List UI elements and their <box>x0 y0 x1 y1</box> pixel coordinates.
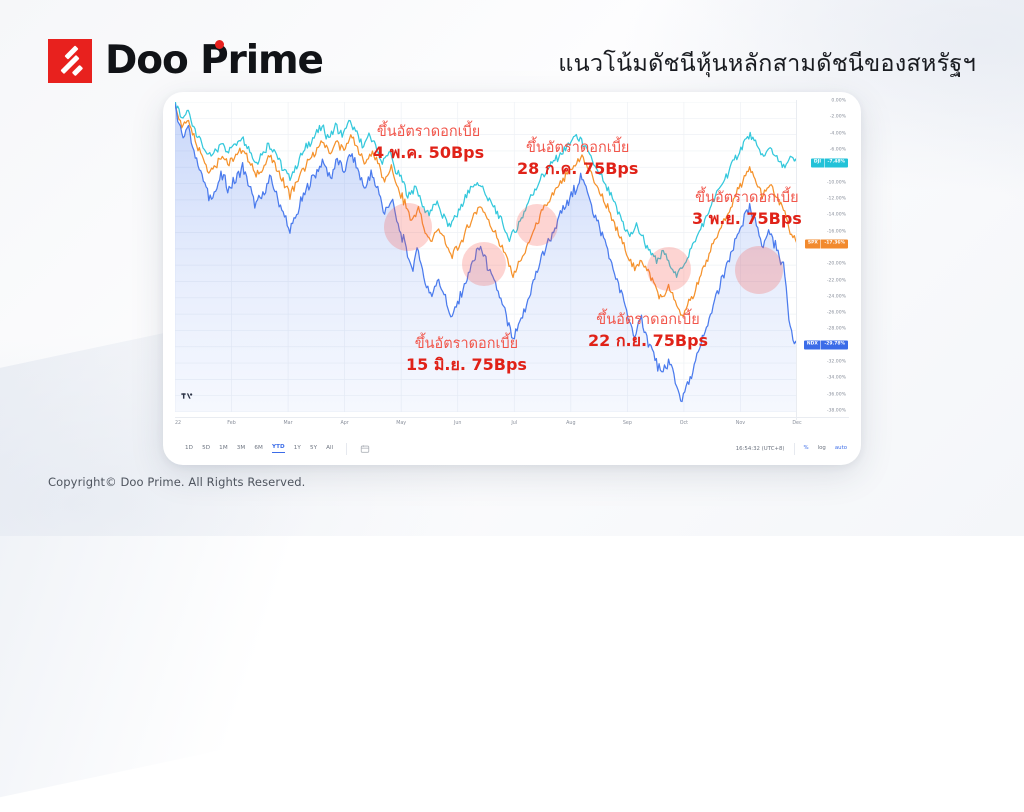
badge-symbol: SPX <box>805 239 820 248</box>
annotation-value: 3 พ.ย. 75Bps <box>692 209 802 229</box>
range-button-all[interactable]: All <box>326 445 333 453</box>
clock-label: 16:54:32 (UTC+8) <box>736 446 785 452</box>
chart-toolbar: 1D5D1M3M6MYTD1Y5YAll 16:54:32 (UTC+8) % … <box>163 432 861 465</box>
price-tick-label: -10.00% <box>827 181 846 186</box>
toolbar-divider-2 <box>794 443 795 455</box>
range-button-6m[interactable]: 6M <box>254 445 263 453</box>
price-tick-label: -38.00% <box>827 410 846 415</box>
date-tick-label: Apr <box>340 422 348 427</box>
date-tick-label: Sep <box>623 422 632 427</box>
annotation-rate-hike-sep-22: ขึ้นอัตราดอกเบี้ย 22 ก.ย. 75Bps <box>588 312 708 350</box>
badge-symbol: DJI <box>811 159 823 168</box>
price-tick-label: -2.00% <box>830 116 846 121</box>
brand-name: Doo Prime <box>105 38 323 83</box>
annotation-value: 28 ก.ค. 75Bps <box>517 159 638 179</box>
price-badge-spx[interactable]: SPX-17.36% <box>805 239 848 248</box>
price-tick-label: -6.00% <box>830 149 846 154</box>
price-tick-label: -28.00% <box>827 328 846 333</box>
date-tick-label: Aug <box>566 422 575 427</box>
toolbar-right-group: 16:54:32 (UTC+8) % log auto <box>736 443 847 455</box>
log-scale-button[interactable]: log <box>818 446 826 451</box>
badge-value: -17.36% <box>820 239 848 248</box>
copyright-text: Copyright© Doo Prime. All Rights Reserve… <box>48 475 305 489</box>
date-tick-label: May <box>396 422 406 427</box>
range-button-3m[interactable]: 3M <box>237 445 246 453</box>
price-tick-label: -34.00% <box>827 377 846 382</box>
auto-scale-button[interactable]: auto <box>835 446 847 451</box>
price-tick-label: -24.00% <box>827 296 846 301</box>
event-marker-a5 <box>647 247 691 291</box>
page-background: Doo Prime แนวโน้มดัชนีหุ้นหลักสามดัชนีขอ… <box>0 0 1024 536</box>
tradingview-logo-icon[interactable] <box>181 390 193 402</box>
brand-dot-icon <box>215 40 224 49</box>
annotation-rate-hike-nov-3: ขึ้นอัตราดอกเบี้ย 3 พ.ย. 75Bps <box>692 190 802 228</box>
annotation-rate-hike-may-4: ขึ้นอัตราดอกเบี้ย 4 พ.ค. 50Bps <box>373 124 484 162</box>
range-button-5d[interactable]: 5D <box>202 445 210 453</box>
annotation-value: 4 พ.ค. 50Bps <box>373 143 484 163</box>
brand-logo: Doo Prime <box>48 38 323 83</box>
percent-scale-button[interactable]: % <box>804 446 809 451</box>
annotation-rate-hike-jun-15: ขึ้นอัตราดอกเบี้ย 15 มิ.ย. 75Bps <box>406 336 527 374</box>
annotation-label: ขึ้นอัตราดอกเบี้ย <box>406 336 527 354</box>
annotation-label: ขึ้นอัตราดอกเบี้ย <box>692 190 802 208</box>
price-tick-label: -22.00% <box>827 279 846 284</box>
badge-symbol: NDX <box>804 340 820 349</box>
annotation-label: ขึ้นอัตราดอกเบี้ย <box>373 124 484 142</box>
price-axis[interactable]: 0.00%-2.00%-4.00%-6.00%-8.00%-10.00%-12.… <box>797 102 849 420</box>
range-button-5y[interactable]: 5Y <box>310 445 317 453</box>
badge-value: -7.48% <box>824 159 848 168</box>
toolbar-divider <box>346 443 347 455</box>
price-tick-label: -20.00% <box>827 263 846 268</box>
price-tick-label: -12.00% <box>827 198 846 203</box>
date-tick-label: Nov <box>736 422 745 427</box>
range-button-1d[interactable]: 1D <box>185 445 193 453</box>
price-tick-label: 0.00% <box>831 100 846 105</box>
axis-divider-horizontal <box>175 417 849 418</box>
annotation-value: 15 มิ.ย. 75Bps <box>406 355 527 375</box>
date-tick-label: Oct <box>680 422 688 427</box>
price-tick-label: -4.00% <box>830 132 846 137</box>
price-tick-label: -14.00% <box>827 214 846 219</box>
chart-card: 0.00%-2.00%-4.00%-6.00%-8.00%-10.00%-12.… <box>163 92 861 465</box>
event-marker-a2 <box>516 204 558 246</box>
date-tick-label: Dec <box>792 422 801 427</box>
date-axis[interactable]: 22FebMarAprMayJunJulAugSepOctNovDec <box>175 420 797 432</box>
annotation-rate-hike-jul-28: ขึ้นอัตราดอกเบี้ย 28 ก.ค. 75Bps <box>517 140 638 178</box>
annotation-label: ขึ้นอัตราดอกเบี้ย <box>517 140 638 158</box>
price-tick-label: -26.00% <box>827 312 846 317</box>
price-tick-label: -36.00% <box>827 393 846 398</box>
badge-value: -29.78% <box>820 340 848 349</box>
date-tick-label: Jun <box>454 422 462 427</box>
range-button-1m[interactable]: 1M <box>219 445 228 453</box>
event-marker-a3 <box>735 246 783 294</box>
event-marker-a4 <box>462 242 506 286</box>
date-tick-label: Feb <box>227 422 236 427</box>
date-tick-label: 22 <box>175 422 181 427</box>
annotation-value: 22 ก.ย. 75Bps <box>588 331 708 351</box>
range-selector: 1D5D1M3M6MYTD1Y5YAll <box>185 444 333 453</box>
brand-name-text: Doo Prime <box>105 38 323 83</box>
calendar-icon[interactable] <box>360 444 370 454</box>
page-title: แนวโน้มดัชนีหุ้นหลักสามดัชนีของสหรัฐฯ <box>558 45 976 82</box>
price-tick-label: -32.00% <box>827 361 846 366</box>
price-badge-dji[interactable]: DJI-7.48% <box>811 159 848 168</box>
price-tick-label: -16.00% <box>827 230 846 235</box>
doo-prime-mark-icon <box>48 39 92 83</box>
range-button-ytd[interactable]: YTD <box>272 444 285 453</box>
price-badge-ndx[interactable]: NDX-29.78% <box>804 340 848 349</box>
annotation-label: ขึ้นอัตราดอกเบี้ย <box>588 312 708 330</box>
event-marker-a1 <box>384 203 432 251</box>
date-tick-label: Jul <box>511 422 517 427</box>
range-button-1y[interactable]: 1Y <box>294 445 301 453</box>
date-tick-label: Mar <box>284 422 293 427</box>
